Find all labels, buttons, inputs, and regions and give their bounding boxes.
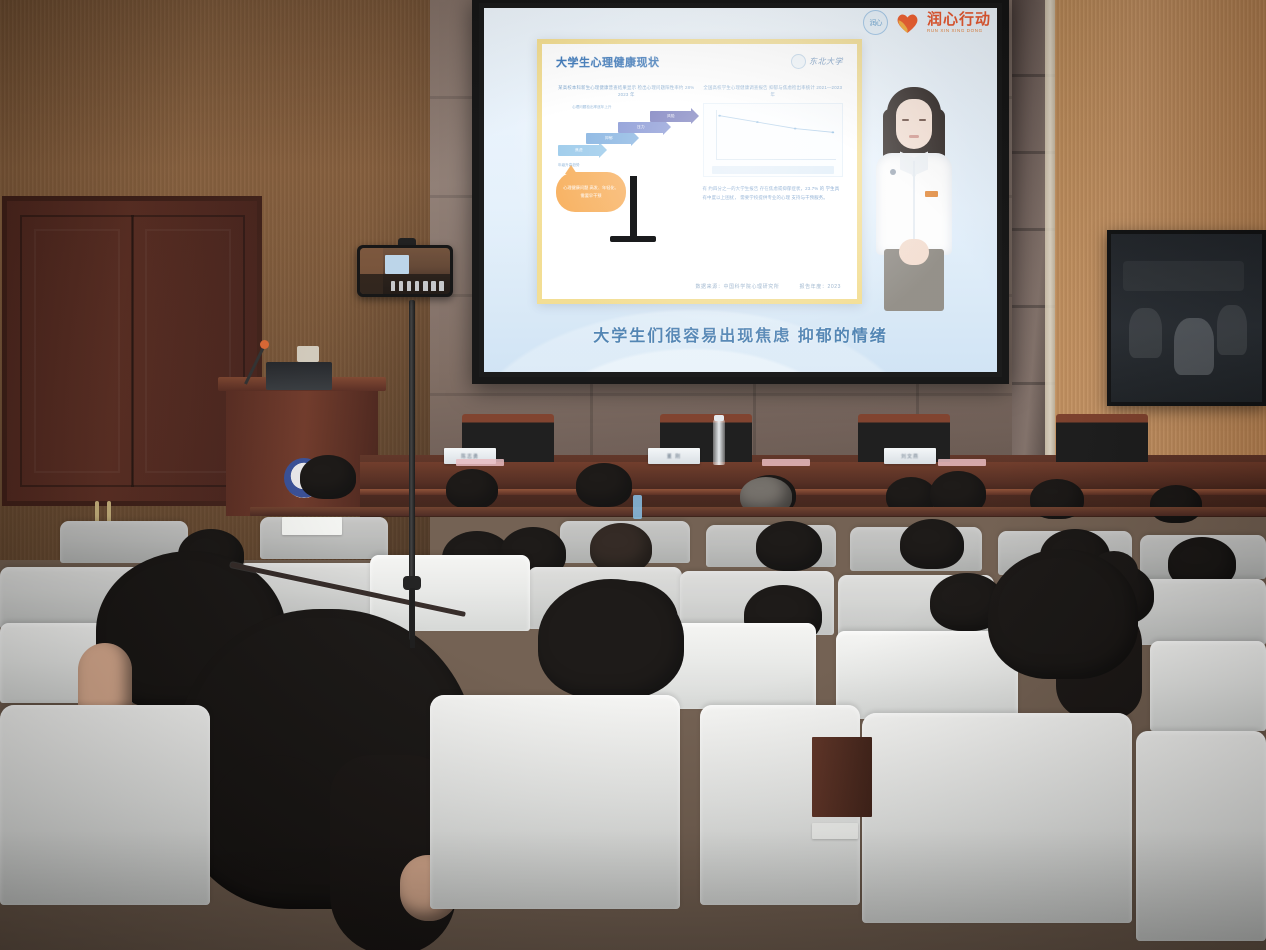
audience-head xyxy=(300,455,356,499)
presenter-hands xyxy=(899,239,929,265)
heart-icon xyxy=(895,11,920,34)
screen-caption: 大学生们很容易出现焦虑 抑郁的情绪 xyxy=(484,322,997,346)
preview-foreground xyxy=(360,274,450,294)
podium-laptop[interactable] xyxy=(266,362,332,390)
water-bottle-cap xyxy=(714,415,724,421)
preview-chair xyxy=(415,281,420,291)
microphone-icon xyxy=(260,340,269,349)
audience-head xyxy=(1150,485,1202,523)
wall-monitor-screen xyxy=(1111,234,1262,402)
audience-head xyxy=(900,519,964,569)
wall-monitor xyxy=(1107,230,1266,406)
projection-screen: 润心 润心行动 RUN XIN XING DONG 大学生心理健康现状 xyxy=(472,0,1009,384)
presenter-lapel-pin xyxy=(890,169,896,175)
university-seal-icon xyxy=(791,54,806,69)
preview-chair xyxy=(439,281,444,291)
presenter-figure xyxy=(871,87,957,312)
right-subhead: 全国高校学生心理健康调查报告 抑郁与焦虑检出率统计 2021—2023 年 xyxy=(703,84,844,99)
slide-left-column: 某高校本科新生心理健康普查结果显示 检出心理问题阳性率约 28% 2023 年 … xyxy=(556,84,697,202)
audience-chair-foreground xyxy=(0,705,210,905)
highlight-speech-bubble: 心理健康问题 高发、年轻化、 需要早干预 xyxy=(556,172,626,212)
brand-seal-icon: 润心 xyxy=(863,10,888,35)
projection-screen-surface: 润心 润心行动 RUN XIN XING DONG 大学生心理健康现状 xyxy=(484,8,997,372)
rising-arrow-graphic: 心理问题检出率逐年上升 焦虑 抑郁 压力 风险 年级升高趋势 xyxy=(556,105,697,169)
brand-wordmark: 润心行动 RUN XIN XING DONG xyxy=(927,12,991,34)
presenter-eye-right xyxy=(919,119,926,121)
audience-head xyxy=(446,469,498,509)
audience-bottle xyxy=(633,495,642,519)
arrow-step-1: 焦虑 xyxy=(558,145,600,156)
audience-chair-foreground xyxy=(1136,731,1266,941)
preview-chair xyxy=(407,281,412,291)
chart-plot xyxy=(716,108,837,158)
slide-header: 大学生心理健康现状 东北大学 xyxy=(556,54,843,70)
monitor-backdrop xyxy=(1123,261,1244,291)
preview-chair xyxy=(399,281,404,291)
smartphone-preview xyxy=(360,248,450,294)
arrow-step-2: 抑郁 xyxy=(586,133,632,144)
audience-chair-foreground xyxy=(430,695,680,909)
chart-x-axis xyxy=(716,159,837,160)
university-name: 东北大学 xyxy=(809,56,843,67)
slide-right-column: 全国高校学生心理健康调查报告 抑郁与焦虑检出率统计 2021—2023 年 有 … xyxy=(703,84,844,202)
audience-head xyxy=(756,521,822,571)
audience-head xyxy=(576,463,632,507)
slide-title: 大学生心理健康现状 xyxy=(556,54,660,70)
lecture-hall-photo: 润心 润心行动 RUN XIN XING DONG 大学生心理健康现状 xyxy=(0,0,1266,950)
audience-paper xyxy=(812,823,858,839)
wall-outlet xyxy=(297,346,319,362)
university-mark: 东北大学 xyxy=(791,54,843,69)
audience-head-foreground xyxy=(538,579,684,699)
presenter-mouth xyxy=(909,135,919,138)
preview-projection-screen xyxy=(385,255,408,273)
credit-source: 数据来源：中国科学院心理研究所 xyxy=(695,283,779,290)
audience-chair xyxy=(1150,641,1266,731)
slide-credits: 数据来源：中国科学院心理研究所 报告年度：2023 xyxy=(542,283,841,290)
audience-area xyxy=(0,455,1266,950)
monitor-figure-3 xyxy=(1217,305,1247,355)
monitor-base xyxy=(610,236,656,242)
chart-caption xyxy=(712,166,835,174)
audience-hair-bun xyxy=(210,755,340,871)
monitor-figure-1 xyxy=(1129,308,1162,358)
slide-card: 大学生心理健康现状 东北大学 某高校本科新生心理健康普查结果显示 检出心理问题阳… xyxy=(537,39,862,304)
preview-chair xyxy=(423,281,428,291)
door-leaf-left[interactable] xyxy=(20,215,134,487)
audience-desk-row xyxy=(250,507,1266,516)
arrow-caption-top: 心理问题检出率逐年上升 xyxy=(572,105,612,110)
preview-chair xyxy=(431,281,436,291)
arrow-step-4: 风险 xyxy=(650,111,692,122)
brand-name-cn: 润心行动 xyxy=(927,12,991,27)
monitor-stand xyxy=(630,176,637,238)
detection-rate-line-chart xyxy=(703,103,844,177)
audience-head-foreground xyxy=(988,549,1138,679)
presenter-face xyxy=(896,99,932,149)
preview-chair xyxy=(391,281,396,291)
audience-head xyxy=(590,523,652,573)
brand-name-pinyin: RUN XIN XING DONG xyxy=(927,29,991,34)
tripod-lower-pole[interactable] xyxy=(410,588,415,648)
audience-paper xyxy=(282,517,342,535)
arrow-step-3: 压力 xyxy=(618,122,664,133)
monitor-figure-2 xyxy=(1174,318,1213,375)
credit-year: 报告年度：2023 xyxy=(799,283,841,290)
audience-chair xyxy=(370,555,530,631)
left-subhead: 某高校本科新生心理健康普查结果显示 检出心理问题阳性率约 28% 2023 年 xyxy=(556,84,697,99)
audience-chair-foreground xyxy=(862,713,1132,923)
broadcast-brand: 润心 润心行动 RUN XIN XING DONG xyxy=(863,10,991,35)
presenter-eye-left xyxy=(902,119,909,121)
presenter-name-badge xyxy=(925,191,938,197)
right-note-text: 有 约四分之一的大学生报告 存在焦虑或抑郁症状，23.7% 的 学生具有中度以上… xyxy=(703,185,844,202)
desk-divider xyxy=(812,737,872,817)
recording-smartphone[interactable] xyxy=(357,245,453,297)
